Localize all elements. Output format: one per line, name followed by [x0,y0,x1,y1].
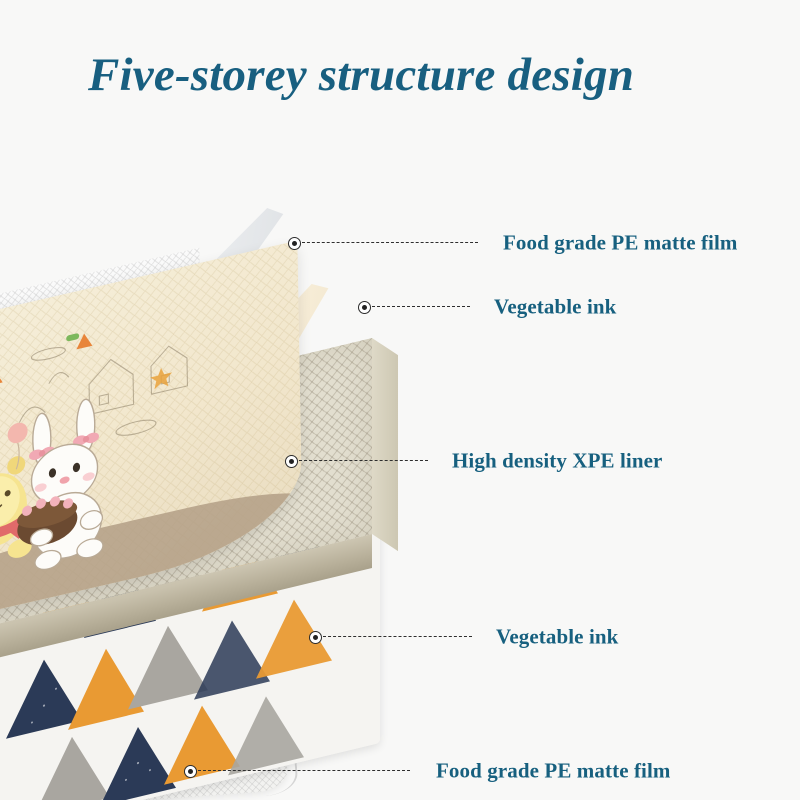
callout-label: Vegetable ink [496,625,618,650]
target-dot-icon[interactable] [184,765,197,778]
target-dot-icon[interactable] [358,301,371,314]
leader-line [323,636,472,637]
target-dot-icon[interactable] [309,631,322,644]
callout-label: Vegetable ink [494,295,616,320]
leader-line [372,306,470,307]
leader-line [299,460,428,461]
foam-right-face [372,338,398,551]
callout-label: Food grade PE matte film [436,759,671,784]
leader-line [198,770,410,771]
target-dot-icon[interactable] [288,237,301,250]
infographic-canvas: Five-storey structure design [0,0,800,800]
callout-label: High density XPE liner [452,449,662,474]
leader-line [302,242,478,243]
page-title: Five-storey structure design [88,48,634,102]
target-dot-icon[interactable] [285,455,298,468]
product-layer-illustration [0,190,480,800]
callout-label: Food grade PE matte film [503,231,738,256]
